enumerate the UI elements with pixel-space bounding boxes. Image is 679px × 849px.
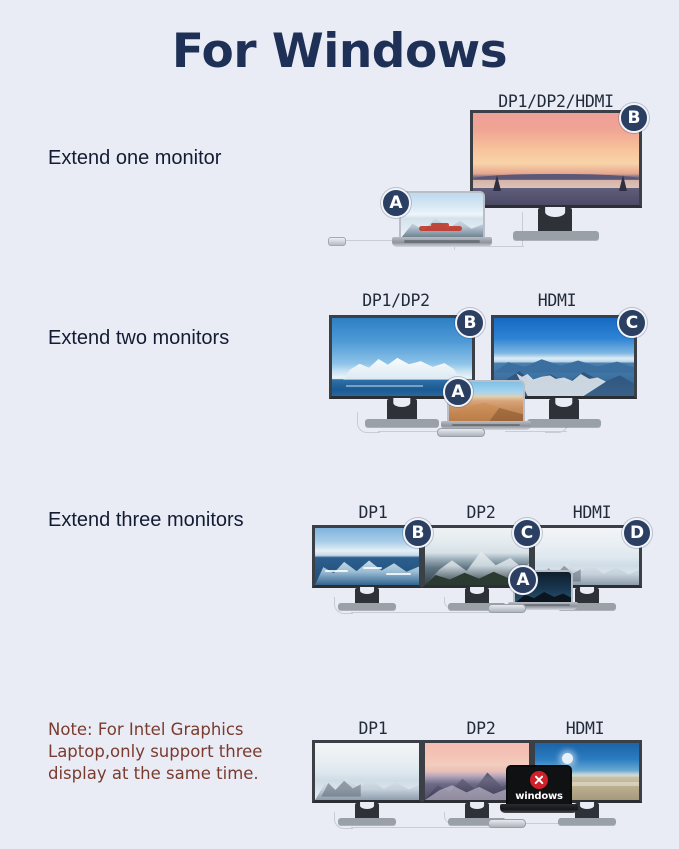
usb-hub-s3: [488, 604, 526, 613]
port-label-s3-dp2: DP2: [467, 503, 496, 523]
red-x-icon: [530, 771, 548, 789]
section-1-caption: Extend one monitor: [48, 145, 221, 171]
hub-plug-s1: [328, 237, 346, 246]
monitor-s1-screen: [470, 110, 642, 208]
monitor-s4-one: [312, 740, 422, 828]
monitor-s3-one-base: [338, 603, 396, 610]
monitor-s1-base: [513, 231, 599, 240]
page-heading: For Windows: [0, 24, 679, 80]
mountain-ridge-back: [494, 352, 634, 372]
wallpaper-laptop-snow: [401, 193, 483, 238]
laptop-s1-screen: [399, 191, 485, 238]
monitor-s4-three-base: [558, 818, 616, 825]
badge-s1-b: B: [619, 103, 649, 133]
monitor-s2-right-neck: [549, 399, 579, 420]
cable-s2-left-flat: [378, 431, 438, 432]
port-label-s4-dp1: DP1: [359, 719, 388, 739]
badge-s3-c: C: [512, 518, 542, 548]
badge-s3-d: D: [622, 518, 652, 548]
usb-hub-s2: [437, 428, 485, 437]
usb-hub-s4: [488, 819, 526, 828]
badge-s3-b: B: [403, 518, 433, 548]
tree-icon: [619, 175, 627, 191]
monitor-s2-right-base: [527, 419, 601, 427]
port-label-s2-hdmi: HDMI: [538, 291, 577, 311]
intel-note: Note: For Intel Graphics Laptop,only sup…: [48, 719, 278, 785]
badge-s3-a: A: [508, 565, 538, 595]
infographic-page: Extend one monitor For Windows Extend on…: [0, 0, 679, 849]
monitor-s1-primary: [470, 110, 642, 240]
port-label-s4-hdmi: HDMI: [566, 719, 605, 739]
snow-streak: [386, 573, 411, 575]
monitor-s2-left-base: [365, 419, 439, 427]
monitor-s4-three-neck: [575, 803, 599, 819]
monitor-s2-left-neck: [387, 399, 417, 420]
monitor-s4-one-neck: [355, 803, 379, 819]
iceberg: [343, 353, 461, 380]
monitor-s3-two-neck: [465, 588, 489, 604]
section-3-caption: Extend three monitors: [48, 507, 244, 533]
port-label-s4-dp2: DP2: [467, 719, 496, 739]
moon-icon: [562, 753, 573, 764]
laptop-s1-base: [392, 237, 492, 247]
monitor-s3-three-neck: [575, 588, 599, 604]
monitor-s1-neck: [538, 208, 572, 232]
laptop-s4-base: [500, 804, 578, 813]
wallpaper-sunset: [473, 113, 639, 205]
monitor-s4-two-neck: [465, 803, 489, 819]
laptop-s4-screen: windows: [506, 765, 572, 805]
snow-streak: [363, 567, 382, 569]
badge-s2-c: C: [617, 308, 647, 338]
laptop-s1: [399, 191, 485, 249]
wallpaper-white-glacier: [315, 743, 419, 800]
monitor-s4-one-screen: [312, 740, 422, 803]
monitor-s4-one-base: [338, 818, 396, 825]
laptop-s4-windows: windows: [506, 765, 572, 815]
badge-s2-b: B: [455, 308, 485, 338]
red-plane: [419, 226, 462, 231]
port-label-s2-dp1dp2: DP1/DP2: [362, 291, 429, 311]
port-label-s3-dp1: DP1: [359, 503, 388, 523]
badge-s1-a: A: [381, 188, 411, 218]
tree-icon: [493, 175, 501, 191]
section-2-caption: Extend two monitors: [48, 325, 229, 351]
badge-s2-a: A: [443, 377, 473, 407]
port-label-s3-hdmi: HDMI: [573, 503, 612, 523]
monitor-s3-one-neck: [355, 588, 379, 604]
port-label-s1-dp1dp2hdmi: DP1/DP2/HDMI: [498, 92, 614, 112]
windows-label: windows: [515, 791, 563, 802]
